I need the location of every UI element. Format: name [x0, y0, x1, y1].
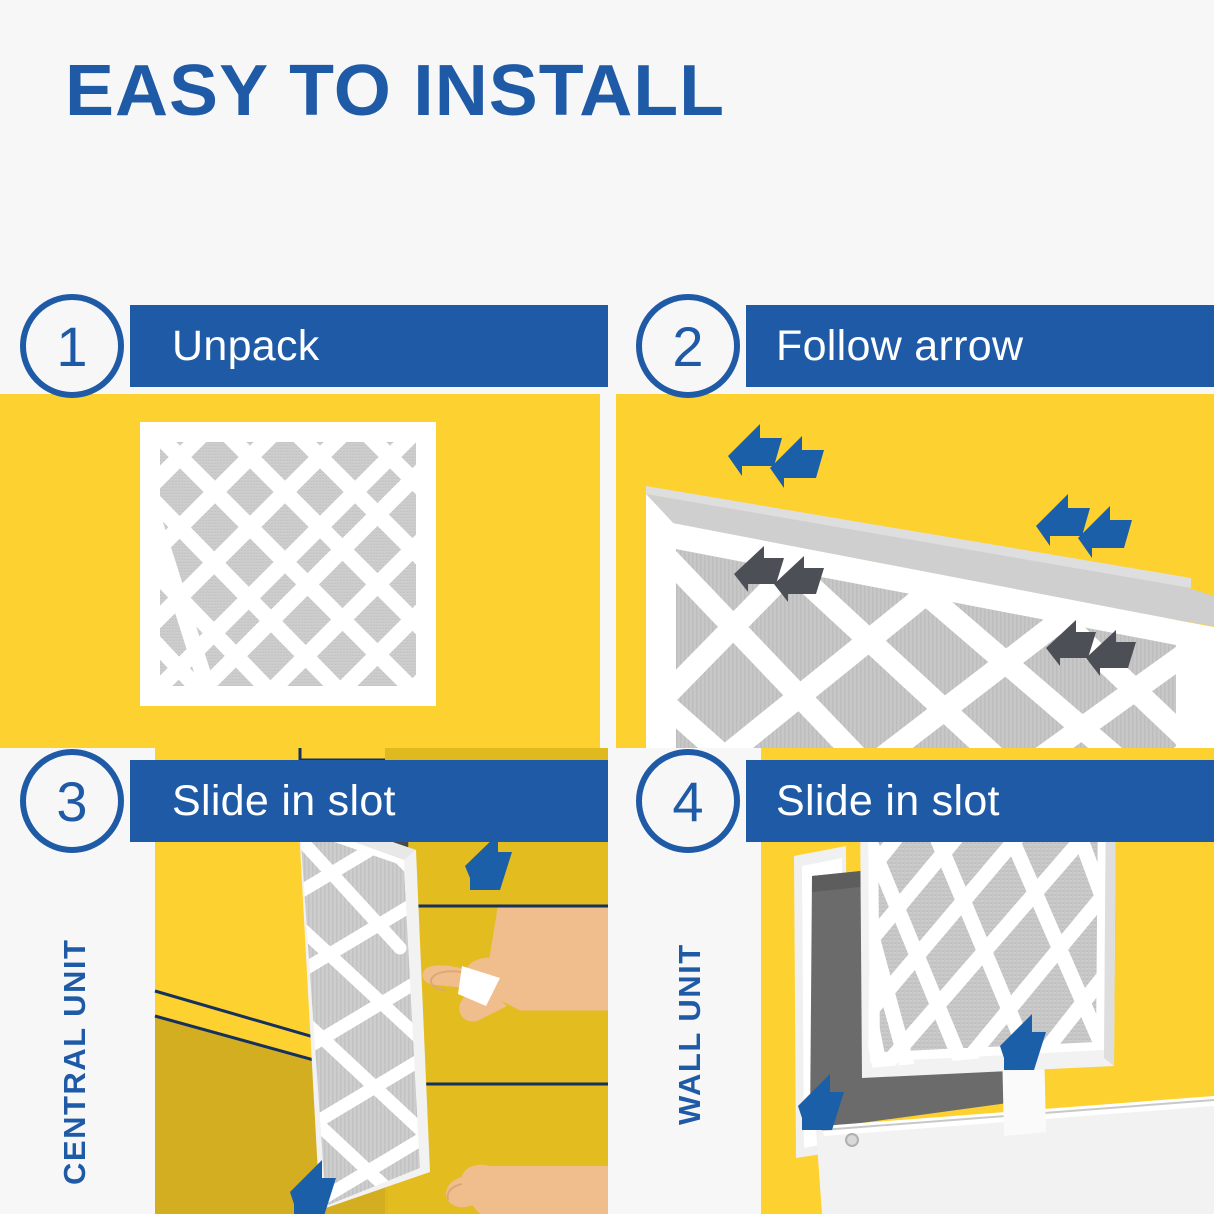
step-label-4: Slide in slot: [776, 777, 1000, 826]
step-label-2: Follow arrow: [776, 322, 1023, 371]
install-guide-graphic: EASY TO INSTALL: [0, 0, 1214, 1214]
step-badge-2: 2: [636, 294, 740, 398]
step-number-1: 1: [56, 314, 87, 379]
step-header-4: Slide in slot: [746, 760, 1214, 842]
step-badge-3: 3: [20, 749, 124, 853]
step-badge-4: 4: [636, 749, 740, 853]
page-title: EASY TO INSTALL: [65, 55, 725, 127]
blue-chevron-arrow-icon: [728, 424, 824, 488]
step-header-2: Follow arrow: [746, 305, 1214, 387]
side-label-wall-unit: WALL UNIT: [672, 943, 708, 1125]
blue-chevron-arrow-icon: [1036, 494, 1132, 558]
step-number-2: 2: [672, 314, 703, 379]
step-label-3: Slide in slot: [172, 777, 396, 826]
step-header-1: Unpack: [130, 305, 608, 387]
step-header-3: Slide in slot: [130, 760, 608, 842]
step-number-3: 3: [56, 769, 87, 834]
step-number-4: 4: [672, 769, 703, 834]
screw-icon: [846, 1134, 858, 1146]
side-label-central-unit: CENTRAL UNIT: [57, 939, 93, 1185]
step-badge-1: 1: [20, 294, 124, 398]
step-label-1: Unpack: [172, 322, 320, 371]
